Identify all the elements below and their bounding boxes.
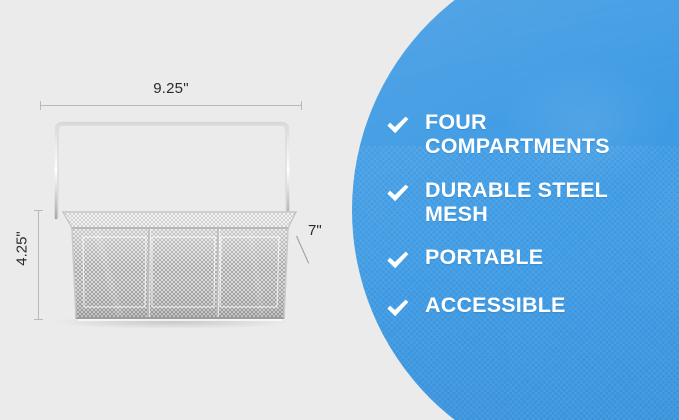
feature-item-portable: PORTABLE bbox=[385, 245, 671, 274]
feature-label: DURABLE STEEL MESH bbox=[425, 178, 671, 227]
feature-list: FOUR COMPARTMENTS DURABLE STEEL MESH POR… bbox=[385, 110, 671, 341]
feature-item-durable-steel-mesh: DURABLE STEEL MESH bbox=[385, 178, 671, 227]
product-dimension-panel: 9.25" 4.25" 7" bbox=[0, 0, 400, 420]
check-icon bbox=[385, 296, 411, 322]
dimension-label-depth: 7" bbox=[308, 222, 322, 239]
dimension-label-height: 4.25" bbox=[14, 219, 31, 279]
infographic-canvas: 9.25" 4.25" 7" FOUR COMPARTMENTS bbox=[0, 0, 679, 420]
check-icon bbox=[385, 113, 411, 139]
feature-item-four-compartments: FOUR COMPARTMENTS bbox=[385, 110, 671, 159]
feature-label: ACCESSIBLE bbox=[425, 293, 566, 317]
feature-label: PORTABLE bbox=[425, 245, 543, 269]
feature-item-accessible: ACCESSIBLE bbox=[385, 293, 671, 322]
feature-label: FOUR COMPARTMENTS bbox=[425, 110, 671, 159]
dimension-line-height bbox=[38, 210, 39, 320]
check-icon bbox=[385, 248, 411, 274]
dimension-label-width: 9.25" bbox=[40, 80, 302, 97]
product-image-mesh-basket bbox=[0, 0, 400, 420]
dimension-line-width bbox=[40, 105, 302, 106]
check-icon bbox=[385, 181, 411, 207]
